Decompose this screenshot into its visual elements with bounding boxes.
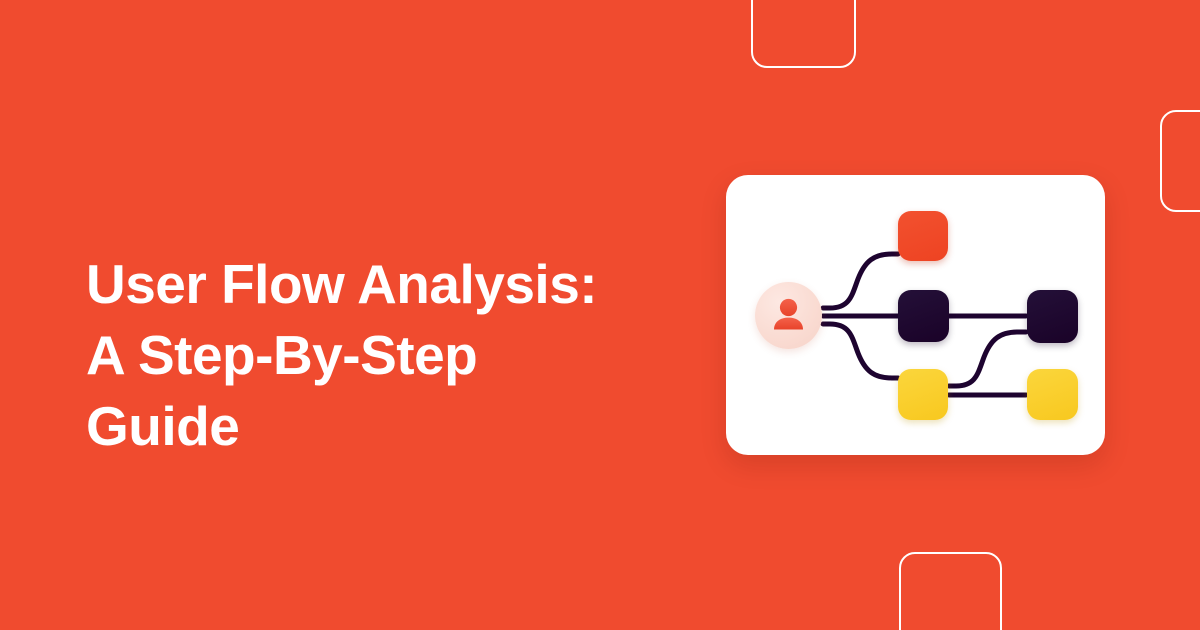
banner: User Flow Analysis: A Step-By-Step Guide [0, 0, 1200, 630]
page-title: User Flow Analysis: A Step-By-Step Guide [86, 249, 686, 462]
user-person-icon [755, 282, 822, 349]
node-dark-middle[interactable] [898, 290, 949, 342]
connector-avatar-to-red [823, 254, 898, 308]
outlined-rounded-rect-right-icon [1160, 110, 1200, 212]
outlined-rounded-rect-bottom-icon [899, 552, 1002, 630]
user-flow-diagram-card [726, 175, 1105, 455]
avatar[interactable] [755, 282, 822, 349]
node-yellow-right[interactable] [1027, 369, 1078, 420]
diagram-canvas [726, 175, 1105, 455]
node-dark-right[interactable] [1027, 290, 1078, 343]
connector-avatar-to-yellow [823, 324, 898, 378]
connector-yellow-to-dark-right [949, 332, 1026, 386]
outlined-rounded-rect-top-icon [751, 0, 856, 68]
node-red-top[interactable] [898, 211, 948, 261]
node-yellow-bottom[interactable] [898, 369, 948, 420]
